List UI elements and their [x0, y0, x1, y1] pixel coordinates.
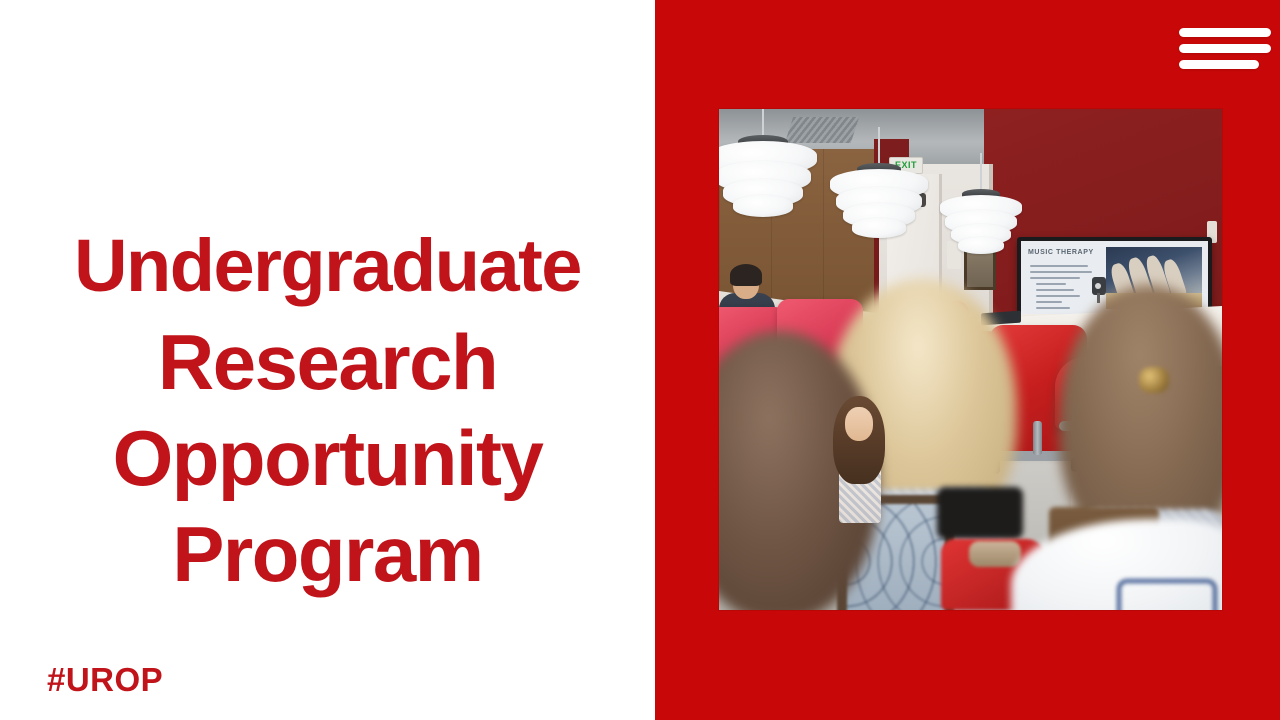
right-red-panel: EXIT EXIT	[655, 0, 1280, 720]
hashtag-label: #UROP	[47, 661, 163, 699]
presenter-face	[845, 407, 873, 441]
title-line-3: Opportunity	[0, 410, 655, 506]
title-line-4: Program	[0, 506, 655, 602]
menu-bar-bottom	[1179, 60, 1259, 69]
seated-person-hair	[730, 264, 762, 286]
floor-object	[937, 487, 1023, 539]
shirt-graphic	[1117, 579, 1217, 610]
slide-bullet	[1036, 307, 1070, 309]
pendant-shade	[852, 218, 906, 238]
menu-bar-middle	[1179, 44, 1271, 53]
title-line-2: Research	[0, 314, 655, 410]
camera-lens	[1095, 283, 1101, 289]
slide-bullet	[1030, 271, 1092, 273]
slide-bullet	[1036, 301, 1062, 303]
title-line-1: Undergraduate	[0, 218, 655, 314]
presentation-photo: EXIT EXIT	[719, 109, 1222, 610]
camera-stand	[1097, 293, 1100, 303]
slide-bullet	[1030, 277, 1080, 279]
page-title: Undergraduate Research Opportunity Progr…	[0, 218, 655, 602]
photo-scene: EXIT EXIT	[719, 109, 1222, 610]
slide-canvas: Undergraduate Research Opportunity Progr…	[0, 0, 1280, 720]
hair-clip	[1139, 367, 1169, 393]
pendant-shade	[958, 237, 1004, 254]
hamburger-menu-icon[interactable]	[1179, 28, 1275, 72]
video-camera-icon	[1090, 277, 1108, 303]
left-text-panel: Undergraduate Research Opportunity Progr…	[0, 0, 655, 720]
slide-bullet	[1036, 295, 1080, 297]
chair-post	[1033, 421, 1042, 455]
slide-bullet	[1036, 289, 1074, 291]
ceiling-vent	[785, 117, 859, 143]
pendant-shade	[733, 195, 793, 217]
slide-heading: MUSIC THERAPY	[1028, 249, 1094, 256]
menu-bar-top	[1179, 28, 1271, 37]
slide-bullet	[1036, 283, 1066, 285]
slide-bullet	[1030, 265, 1088, 267]
bag-strap	[969, 541, 1021, 567]
